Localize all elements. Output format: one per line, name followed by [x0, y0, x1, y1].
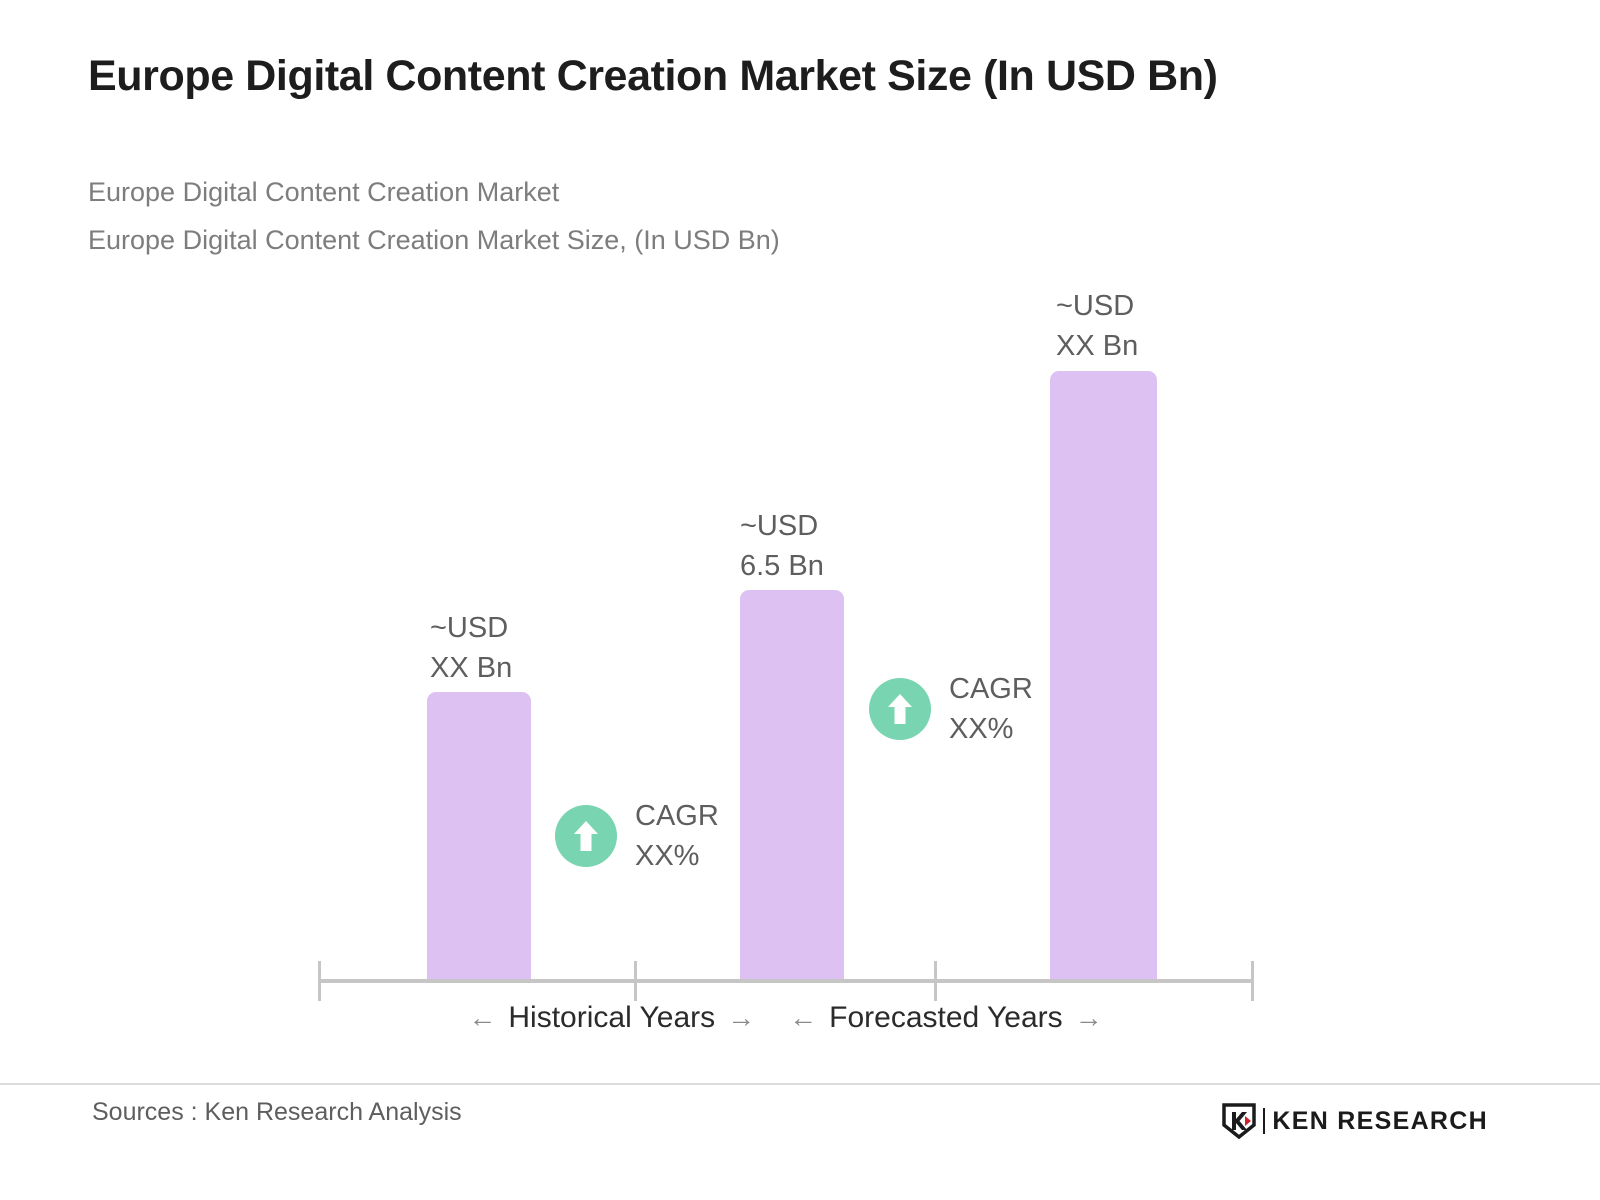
axis-tick-mid-1 — [634, 961, 637, 1001]
footer-divider — [0, 1083, 1600, 1085]
cagr-text-2-line1: CAGR — [949, 669, 1033, 709]
brand-logo: KEN RESEARCH — [1222, 1103, 1488, 1139]
arrow-up-icon — [885, 692, 915, 726]
arrow-left-icon: ← — [468, 1004, 496, 1032]
cagr-annotation-2: CAGR XX% — [869, 669, 1033, 749]
cagr-text-2-line2: XX% — [949, 709, 1033, 749]
source-note: Sources : Ken Research Analysis — [92, 1098, 462, 1127]
cagr-annotation-1: CAGR XX% — [555, 796, 719, 876]
arrow-left-icon: ← — [789, 1004, 817, 1032]
cagr-text-1-line1: CAGR — [635, 796, 719, 836]
x-axis-line — [318, 979, 1253, 983]
bar-value-label-2-line1: ~USD — [740, 506, 824, 546]
bar-chart-plot-area: ~USD XX Bn ~USD 6.5 Bn ~USD XX Bn CAGR X… — [0, 0, 1600, 1060]
cagr-text-1: CAGR XX% — [635, 796, 719, 876]
axis-tick-start — [318, 961, 321, 1001]
brand-wordmark: KEN RESEARCH — [1272, 1107, 1488, 1136]
period-group-historical: ← Historical Years → — [468, 1001, 755, 1035]
bar-value-label-1-line1: ~USD — [430, 608, 512, 648]
bar-2[interactable] — [740, 590, 844, 981]
cagr-text-1-line2: XX% — [635, 836, 719, 876]
arrow-right-icon: → — [727, 1004, 755, 1032]
bar-value-label-3-line2: XX Bn — [1056, 326, 1138, 366]
cagr-badge-circle-2 — [869, 678, 931, 740]
period-label-forecasted: Forecasted Years — [829, 1001, 1062, 1035]
bar-value-label-2-line2: 6.5 Bn — [740, 546, 824, 586]
bar-1[interactable] — [427, 692, 531, 981]
bar-value-label-3: ~USD XX Bn — [1056, 286, 1138, 366]
arrow-right-icon: → — [1075, 1004, 1103, 1032]
bar-value-label-3-line1: ~USD — [1056, 286, 1138, 326]
period-label-historical: Historical Years — [508, 1001, 715, 1035]
bar-value-label-1: ~USD XX Bn — [430, 608, 512, 688]
bar-value-label-1-line2: XX Bn — [430, 648, 512, 688]
period-group-forecasted: ← Forecasted Years → — [789, 1001, 1102, 1035]
bar-3[interactable] — [1050, 371, 1157, 981]
cagr-badge-circle-1 — [555, 805, 617, 867]
axis-period-labels: ← Historical Years → ← Forecasted Years … — [318, 1001, 1253, 1035]
logo-divider — [1263, 1108, 1265, 1134]
cagr-text-2: CAGR XX% — [949, 669, 1033, 749]
bar-value-label-2: ~USD 6.5 Bn — [740, 506, 824, 586]
ken-research-shield-icon — [1222, 1103, 1256, 1139]
axis-tick-end — [1251, 961, 1254, 1001]
arrow-up-icon — [571, 819, 601, 853]
axis-tick-mid-2 — [934, 961, 937, 1001]
